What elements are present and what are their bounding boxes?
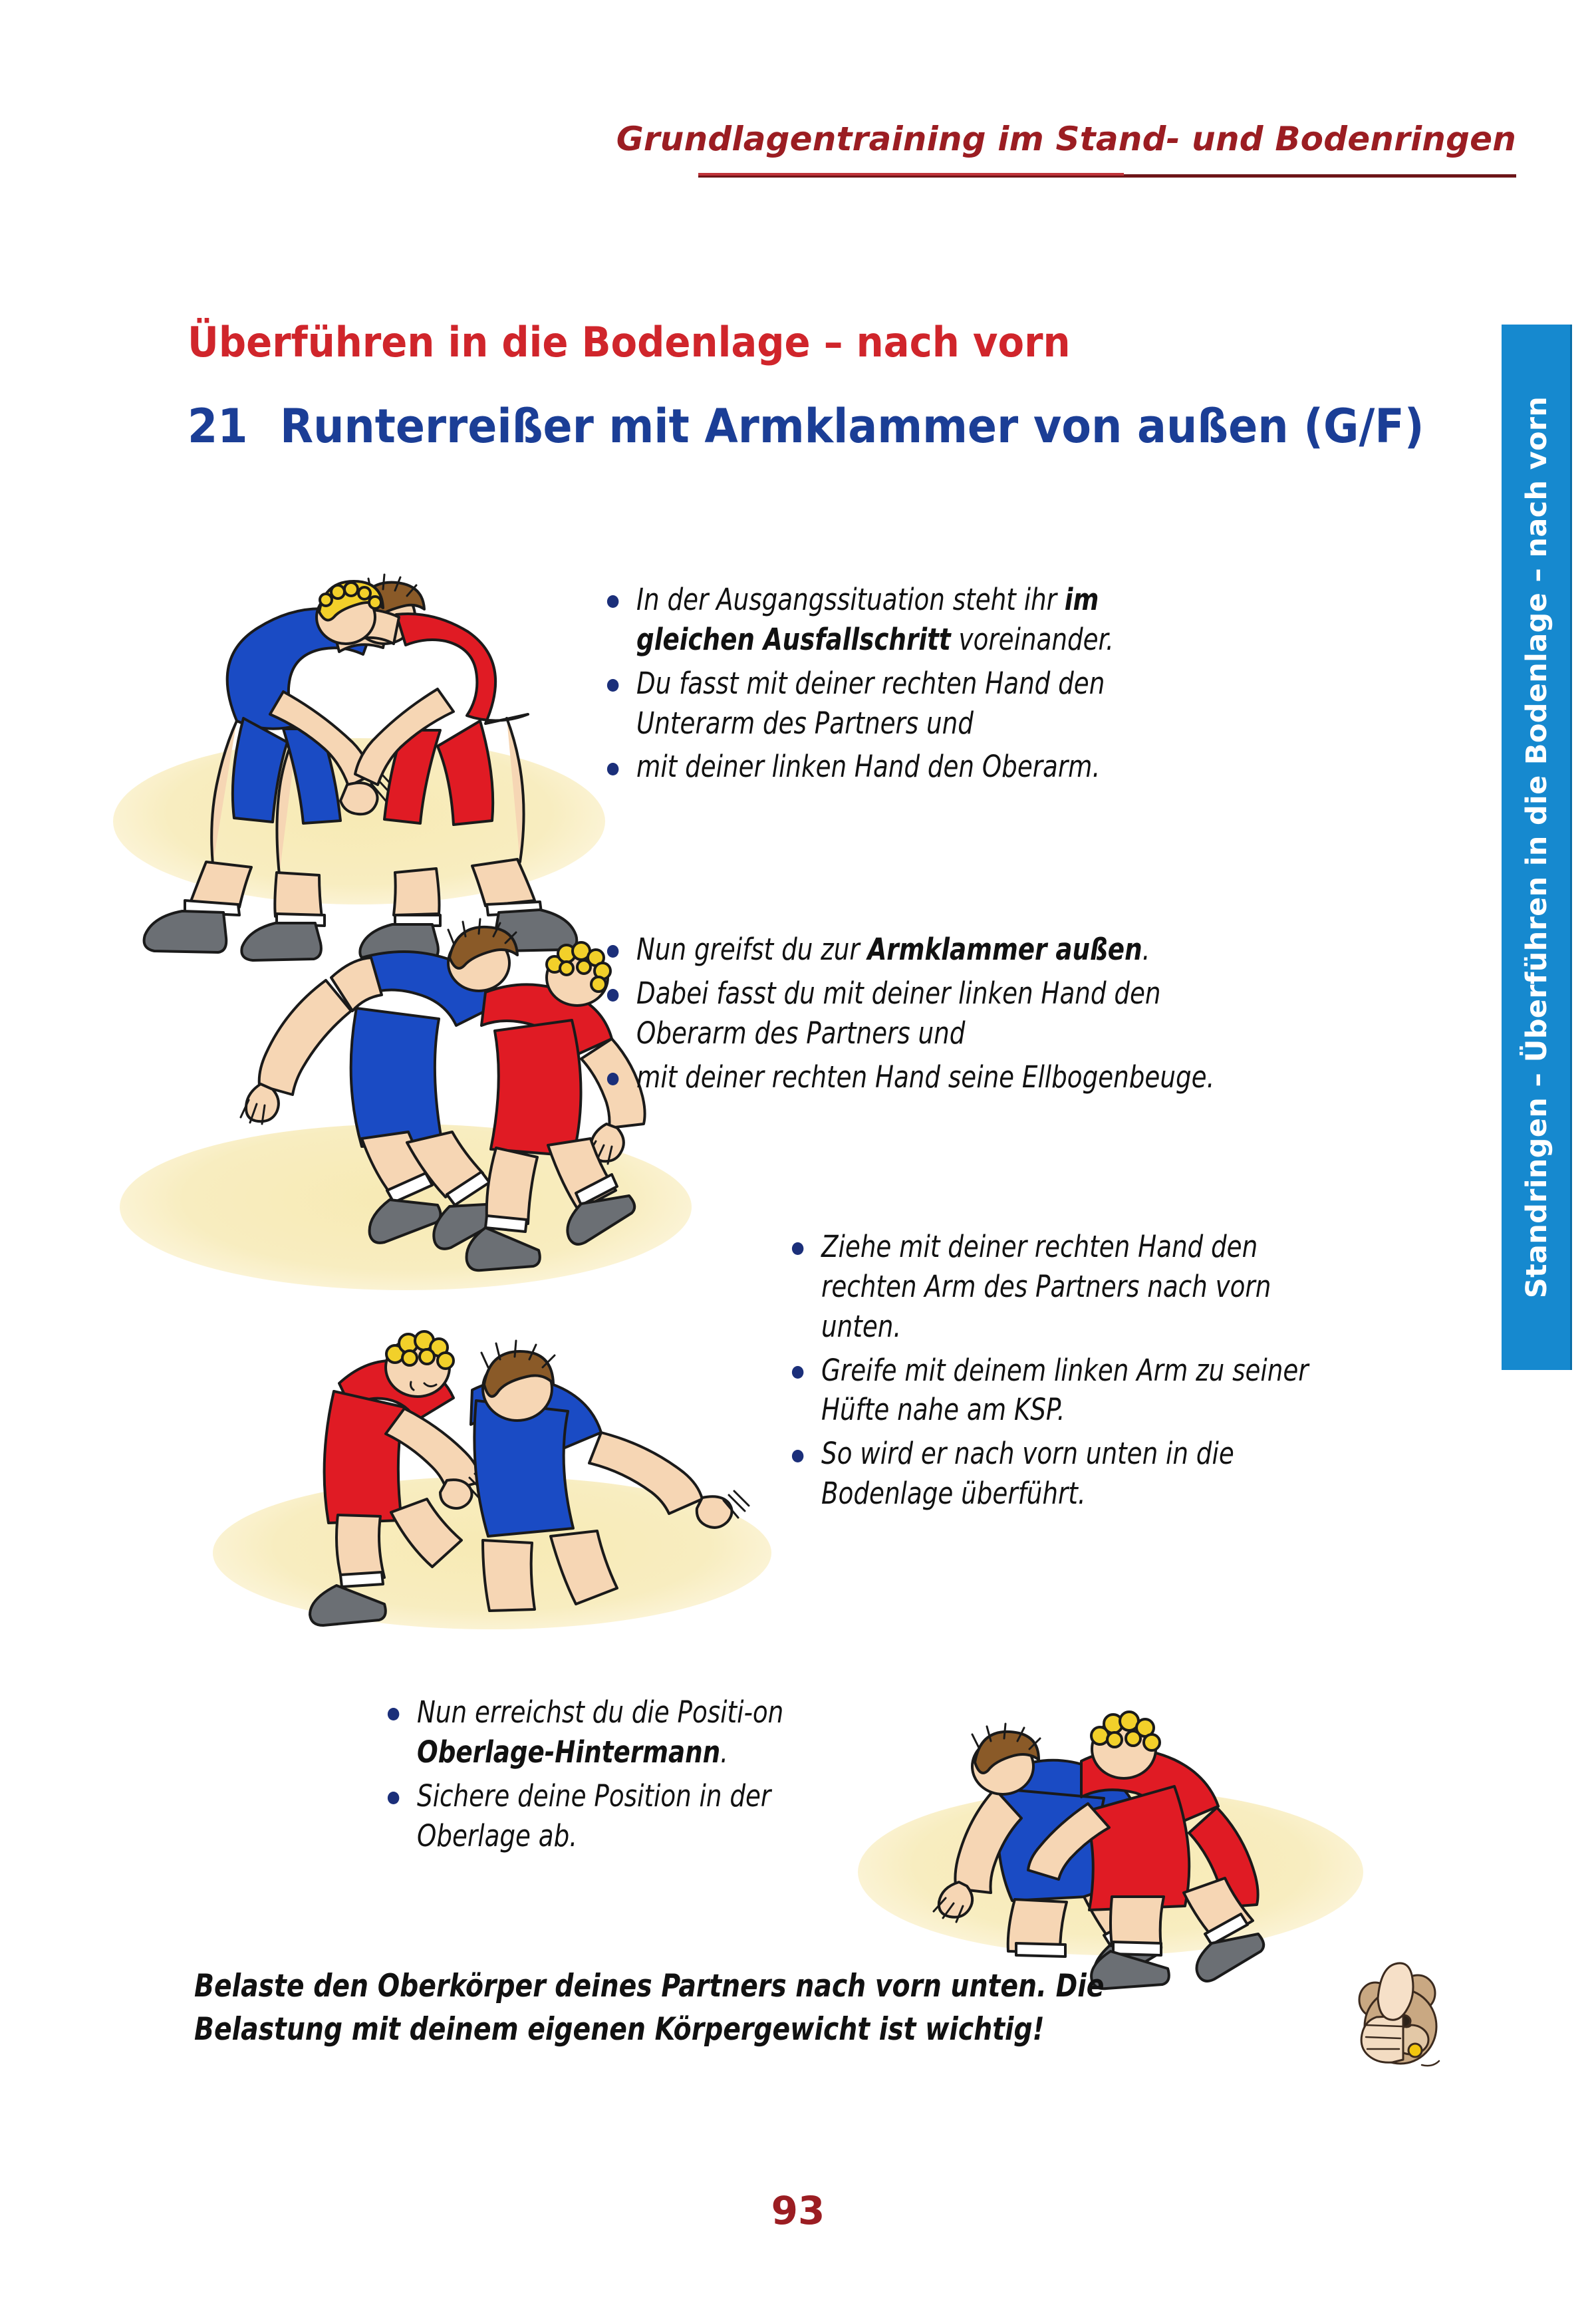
bullet-item: So wird er nach vorn unten in die Bodenl… xyxy=(783,1434,1334,1514)
bullet-item: Sichere deine Position in der Oberlage a… xyxy=(379,1776,844,1856)
bullet-item: mit deiner linken Hand den Oberarm. xyxy=(598,747,1216,787)
bullet-item: In der Ausgangssituation steht ihr im gl… xyxy=(598,580,1216,660)
note-text: Belaste den Oberkörper deines Partners n… xyxy=(194,1965,1221,2052)
section-title: Überführen in die Bodenlage – nach vorn xyxy=(188,318,1071,366)
side-tab-label: Standringen – Überführen in die Bodenlag… xyxy=(1520,396,1553,1298)
bullet-item: Ziehe mit deiner rechten Hand den rechte… xyxy=(783,1227,1334,1347)
bullet-item: Greife mit deinem linken Arm zu seiner H… xyxy=(783,1351,1334,1431)
exercise-title: Runterreißer mit Armklammer von außen (G… xyxy=(280,399,1424,454)
bullet-item: Nun erreichst du die Positi-on Oberlage-… xyxy=(379,1693,844,1772)
bullet-item: Nun greifst du zur Armklammer außen. xyxy=(598,930,1271,970)
figure-3-runterreissen xyxy=(253,1284,785,1629)
page: Grundlagentraining im Stand- und Bodenri… xyxy=(0,0,1596,2321)
figure-4-oberlage-hintermann xyxy=(884,1656,1337,1969)
step-3-text: Ziehe mit deiner rechten Hand den rechte… xyxy=(783,1227,1382,1518)
bullet-item: Dabei fasst du mit deiner linken Hand de… xyxy=(598,974,1271,1053)
page-number: 93 xyxy=(0,2188,1596,2233)
step-4-text: Nun erreichst du die Positi-on Oberlage-… xyxy=(379,1693,884,1859)
exercise-heading: 21Runterreißer mit Armklammer von außen … xyxy=(188,399,1424,454)
exercise-number: 21 xyxy=(188,399,248,454)
side-tab: Standringen – Überführen in die Bodenlag… xyxy=(1502,325,1572,1370)
running-head: Grundlagentraining im Stand- und Bodenri… xyxy=(0,120,1516,158)
bullet-item: Du fasst mit deiner rechten Hand den Unt… xyxy=(598,664,1216,744)
thumbs-up-bear-icon xyxy=(1337,1952,1450,2075)
running-head-rule xyxy=(698,174,1516,178)
figure-1-ausgangsstellung xyxy=(113,492,618,918)
bullet-item: mit deiner rechten Hand seine Ellbogenbe… xyxy=(598,1057,1271,1097)
step-2-text: Nun greifst du zur Armklammer außen. Dab… xyxy=(598,930,1330,1101)
step-1-text: In der Ausgangssituation steht ihr im gl… xyxy=(598,580,1270,791)
